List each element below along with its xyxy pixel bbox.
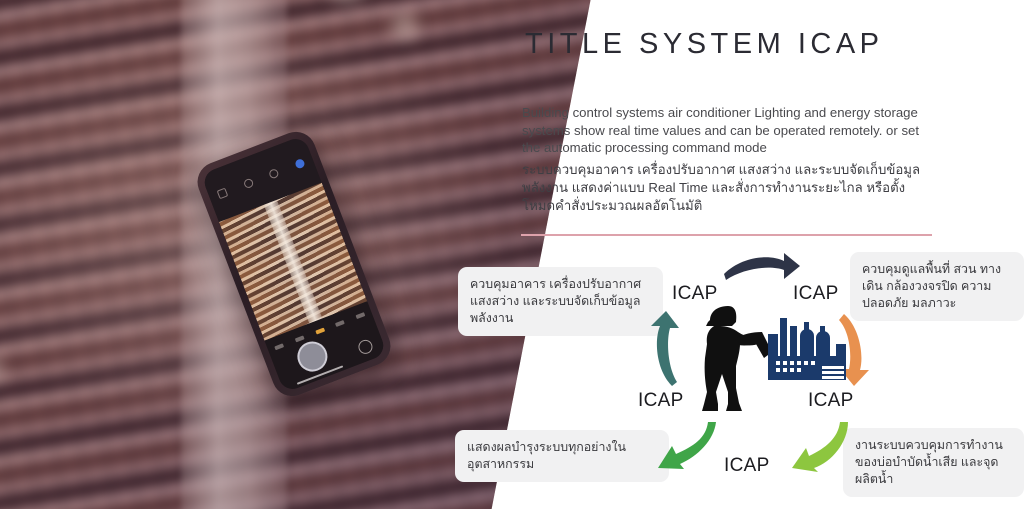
cycle-label-icap-4: ICAP bbox=[638, 390, 684, 412]
bokeh-light bbox=[391, 13, 419, 41]
cycle-label-icap-2: ICAP bbox=[793, 283, 839, 305]
horizontal-divider bbox=[521, 234, 932, 236]
mode-tick bbox=[335, 320, 345, 327]
mode-tick bbox=[294, 335, 304, 342]
mode-tick bbox=[274, 343, 284, 350]
flash-icon bbox=[217, 188, 229, 200]
arrow-left-icon bbox=[646, 310, 680, 388]
shutter-button-icon bbox=[293, 337, 332, 376]
icap-cycle-diagram: ICAP ICAP ICAP ICAP ICAP bbox=[630, 250, 890, 509]
engineer-silhouette-icon bbox=[692, 300, 776, 415]
camera-flip-icon bbox=[357, 338, 375, 356]
arrow-top-icon bbox=[722, 252, 802, 284]
cycle-label-icap-3: ICAP bbox=[808, 390, 854, 412]
cycle-label-icap-5: ICAP bbox=[724, 455, 770, 477]
factory-icon bbox=[766, 314, 850, 386]
mode-tick bbox=[356, 312, 366, 319]
slide-root: TITLE SYSTEM ICAP Building control syste… bbox=[0, 0, 1024, 509]
bokeh-light bbox=[325, 0, 368, 3]
bokeh-light bbox=[0, 358, 4, 383]
paragraph-thai: ระบบควบคุมอาคาร เครื่องปรับอากาศ แสงสว่า… bbox=[522, 161, 934, 215]
page-title: TITLE SYSTEM ICAP bbox=[525, 28, 884, 61]
timer-icon bbox=[268, 168, 280, 180]
arrow-bottom-left-icon bbox=[648, 420, 722, 472]
filter-icon bbox=[294, 158, 306, 170]
live-photo-icon bbox=[243, 178, 255, 190]
paragraph-english: Building control systems air conditioner… bbox=[522, 104, 934, 157]
arrow-bottom-right-icon bbox=[782, 420, 852, 472]
mode-tick-active bbox=[315, 328, 325, 335]
